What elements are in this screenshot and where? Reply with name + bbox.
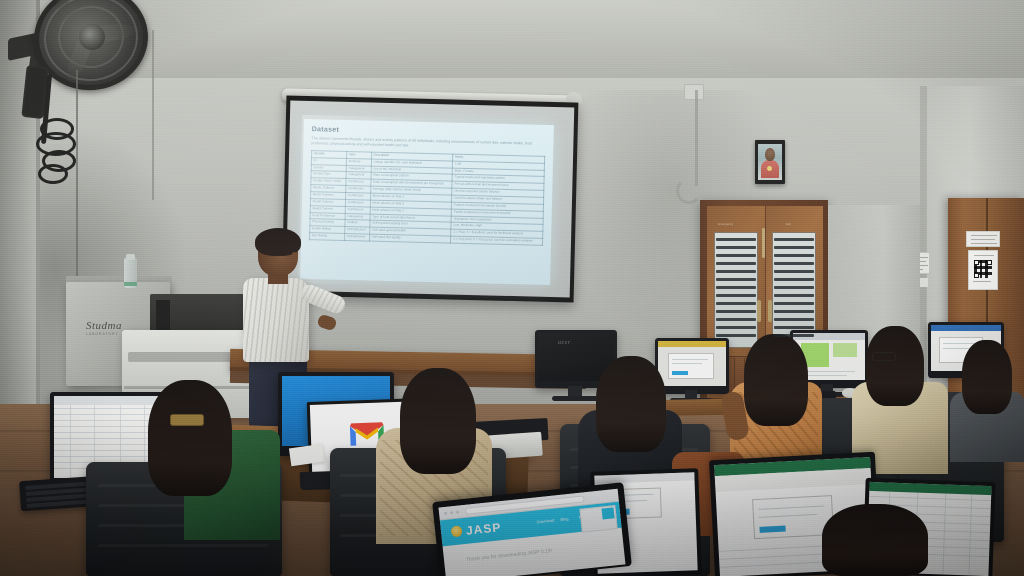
door-louver xyxy=(774,278,814,281)
participant-orange-sari-head xyxy=(744,334,808,426)
qr-code-icon xyxy=(974,260,992,278)
participant-back-right-head xyxy=(962,340,1012,414)
acer-brand-label: acer xyxy=(558,340,571,346)
participant-green-sari-head xyxy=(148,380,232,496)
slide-table-cell: Self-rated diet quality xyxy=(369,234,451,243)
door-louver xyxy=(716,254,756,257)
projected-slide: Dataset The dataset represents lifestyle… xyxy=(300,119,554,285)
door-louver xyxy=(774,246,814,249)
printer-scanner-glass xyxy=(156,300,170,330)
wall-socket-plate xyxy=(684,84,704,100)
door-louver xyxy=(774,254,814,257)
cable-hook xyxy=(676,178,702,204)
fan-hub xyxy=(79,24,105,50)
hair-clip xyxy=(170,414,204,426)
door-louver xyxy=(716,310,756,313)
slide-table-cell: 1 = Very poor, 5 = Very good; used for c… xyxy=(451,236,543,245)
door-louver xyxy=(716,270,756,273)
door-louver xyxy=(716,334,756,337)
qr-caption xyxy=(971,280,995,284)
door-handle-right[interactable] xyxy=(768,300,772,322)
door-louver xyxy=(716,262,756,265)
door-louver xyxy=(716,278,756,281)
slide-table-cell: Ordinal/Likert xyxy=(345,234,370,241)
door-louver xyxy=(774,294,814,297)
door-louver xyxy=(774,270,814,273)
door-louver xyxy=(716,326,756,329)
door-louver xyxy=(774,334,814,337)
bottle-cap xyxy=(126,254,135,260)
participant-with-glasses-hair xyxy=(866,326,924,406)
door-plate-left-label: Emergency xyxy=(718,222,733,226)
back-monitor-2-screen[interactable] xyxy=(658,341,726,386)
door-louver xyxy=(716,318,756,321)
notice-heading-poster xyxy=(966,231,1000,247)
hanging-wire xyxy=(152,30,154,200)
door-louver xyxy=(716,246,756,249)
participant-dark-top-head xyxy=(596,356,666,452)
door-bolt[interactable] xyxy=(762,228,765,258)
classroom-photo-scene: Dataset The dataset represents lifestyle… xyxy=(0,0,1024,576)
jasp-hero-text: Thank you for downloading JASP 0.19! xyxy=(466,548,553,563)
door-louver xyxy=(774,310,814,313)
door-plate-right-label: Exit xyxy=(786,222,791,226)
door-louver xyxy=(716,286,756,289)
door-louver xyxy=(774,326,814,329)
slide-table-body: IDNumericUnique identifier for each indi… xyxy=(310,157,545,245)
door-louver xyxy=(716,302,756,305)
jasp-nav-blog[interactable]: Blog xyxy=(560,516,568,522)
door-louver xyxy=(774,318,814,321)
monitor-base xyxy=(552,396,598,401)
slide-table-cell: Diet Rating xyxy=(310,233,345,241)
door-louver xyxy=(774,286,814,289)
coiled-cable xyxy=(36,118,94,188)
wall-cable xyxy=(695,90,698,186)
portrait-face xyxy=(765,148,775,161)
door-handle-left[interactable] xyxy=(757,300,761,322)
portrait-heart-icon xyxy=(767,166,772,171)
door-louver xyxy=(774,238,814,241)
jasp-download-button[interactable] xyxy=(602,507,615,519)
door-louver xyxy=(716,294,756,297)
participant-bottom-right-head xyxy=(822,504,928,576)
door-glass-left xyxy=(714,232,758,348)
eyeglasses-icon xyxy=(872,352,896,361)
instructor-shirt xyxy=(243,278,309,362)
door-louver xyxy=(774,302,814,305)
door-louver xyxy=(716,238,756,241)
participant-beige-sari-head xyxy=(400,368,476,474)
instructor-ear xyxy=(291,252,298,262)
bottle-label xyxy=(124,282,137,286)
slide-dataset-table: VariableTypeDescriptionNotes IDNumericUn… xyxy=(309,150,545,246)
door-louver xyxy=(774,262,814,265)
